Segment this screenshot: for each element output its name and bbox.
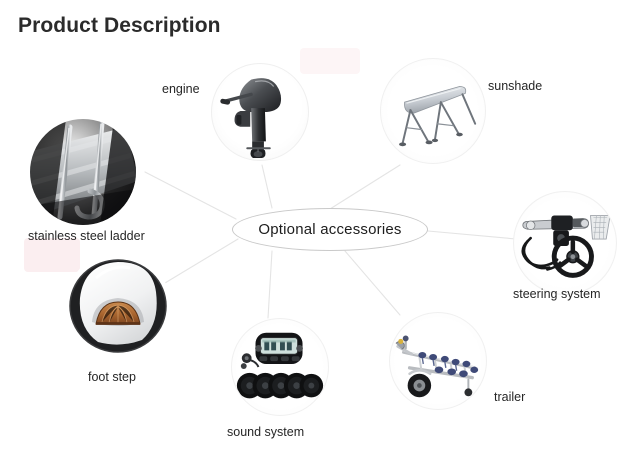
sunshade-thumbnail[interactable] xyxy=(380,58,486,164)
product-description-page: Product Description Optional accessories xyxy=(0,0,639,459)
node-label-trailer: trailer xyxy=(494,390,525,404)
stainless-steel-ladder-icon xyxy=(30,119,136,225)
center-node-label: Optional accessories xyxy=(258,221,401,238)
node-label-sound-system: sound system xyxy=(227,425,304,439)
node-label-foot-step: foot step xyxy=(88,370,136,384)
engine-thumbnail[interactable] xyxy=(211,63,309,161)
sound-system-thumbnail[interactable] xyxy=(231,318,329,416)
foot-step-thumbnail[interactable] xyxy=(66,252,170,356)
steering-system-thumbnail[interactable] xyxy=(513,191,617,295)
boat-trailer-icon xyxy=(390,313,486,409)
bimini-top-sunshade-icon xyxy=(381,59,485,163)
node-label-sunshade: sunshade xyxy=(488,79,542,93)
node-label-steering-system: steering system xyxy=(513,287,601,301)
steering-system-icon xyxy=(514,192,616,294)
node-label-stainless-steel-ladder: stainless steel ladder xyxy=(28,229,145,243)
node-label-engine: engine xyxy=(162,82,200,96)
outboard-engine-icon xyxy=(212,64,308,160)
marine-stereo-and-speakers-icon xyxy=(232,319,328,415)
foot-step-icon xyxy=(66,252,170,356)
stainless-steel-ladder-thumbnail[interactable] xyxy=(30,119,136,225)
center-node-optional-accessories[interactable]: Optional accessories xyxy=(232,208,428,251)
trailer-thumbnail[interactable] xyxy=(389,312,487,410)
